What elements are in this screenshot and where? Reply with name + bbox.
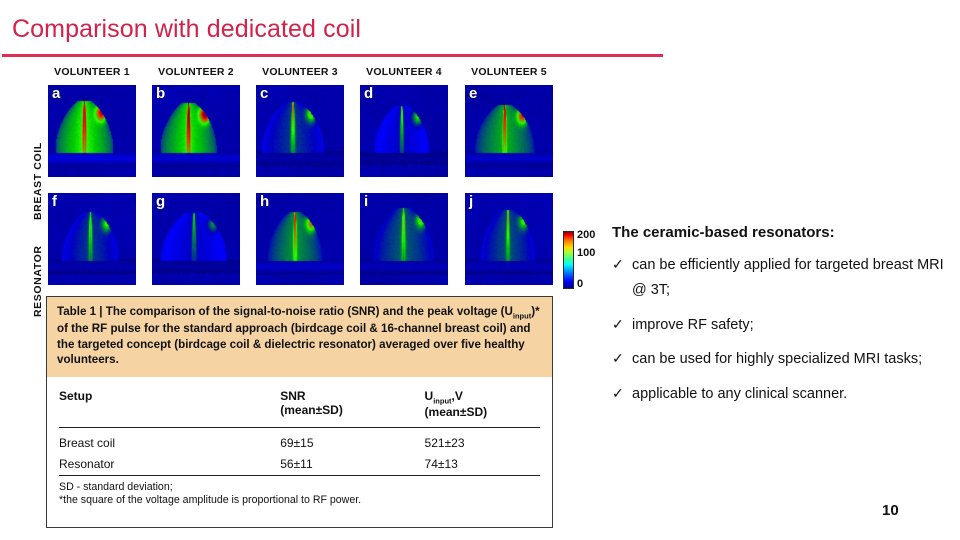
colorbar-tick-200: 200 [577,230,595,241]
column-header-setup: Setup [59,387,280,428]
table-1-card: Table 1 | The comparison of the signal-t… [46,296,553,528]
check-icon: ✓ [612,347,632,368]
mri-panel-j: j [465,193,553,285]
panel-letter-c: c [260,85,268,102]
table-body: Setup SNR (mean±SD) Uinput,V (mean±SD) B… [47,377,552,475]
conclusions-list: The ceramic-based resonators: ✓ can be e… [612,224,952,416]
conclusions-heading: The ceramic-based resonators: [612,224,952,241]
column-header-volunteer-3: VOLUNTEER 3 [256,66,344,78]
mri-panel-a: a [48,85,136,177]
panel-letter-i: i [364,193,368,210]
list-item: ✓ can be efficiently applied for targete… [612,253,952,304]
table-body-rows: Breast coil 69±15 521±23 Resonator 56±11… [59,427,540,475]
check-icon: ✓ [612,313,632,334]
list-item-label: can be used for highly specialized MRI t… [632,347,922,372]
colorbar-tick-0: 0 [577,279,583,290]
mri-panel-b: b [152,85,240,177]
column-header-snr: SNR (mean±SD) [280,387,424,428]
footnote-asterisk: *the square of the voltage amplitude is … [59,494,540,508]
panel-letter-f: f [52,193,57,210]
panel-letter-j: j [469,193,473,210]
column-header-uinput: Uinput,V (mean±SD) [425,387,540,428]
check-icon: ✓ [612,382,632,403]
mri-panel-h: h [256,193,344,285]
cell-snr: 56±11 [280,454,424,475]
panel-letter-d: d [364,85,373,102]
mri-panel-d: d [360,85,448,177]
list-item: ✓ improve RF safety; [612,313,952,338]
snr-comparison-table: Setup SNR (mean±SD) Uinput,V (mean±SD) B… [59,387,540,475]
mri-panel-i: i [360,193,448,285]
colorbar-gradient [563,231,574,289]
header-setup-label: Setup [59,389,92,403]
row-label-breast-coil: BREAST COIL [32,142,44,220]
header-uinput-line1: Uinput,V [425,389,463,403]
cell-setup: Breast coil [59,427,280,454]
panel-letter-a: a [52,85,60,102]
column-header-volunteer-2: VOLUNTEER 2 [152,66,240,78]
mri-figure: VOLUNTEER 1 VOLUNTEER 2 VOLUNTEER 3 VOLU… [0,62,600,292]
table-header-row: Setup SNR (mean±SD) Uinput,V (mean±SD) [59,387,540,428]
mri-panel-c: c [256,85,344,177]
cell-setup: Resonator [59,454,280,475]
panel-letter-e: e [469,85,477,102]
page-title: Comparison with dedicated coil [12,15,361,44]
list-item: ✓ can be used for highly specialized MRI… [612,347,952,372]
list-item-label: can be efficiently applied for targeted … [632,253,952,304]
table-row: Resonator 56±11 74±13 [59,454,540,475]
header-snr-line1: SNR [280,389,305,403]
table-footnotes: SD - standard deviation; *the square of … [59,475,540,509]
header-snr-line2: (mean±SD) [280,403,343,417]
footnote-sd: SD - standard deviation; [59,481,540,495]
column-header-volunteer-5: VOLUNTEER 5 [465,66,553,78]
mri-panel-e: e [465,85,553,177]
panel-letter-h: h [260,193,269,210]
list-item-label: improve RF safety; [632,313,754,338]
mri-panel-g: g [152,193,240,285]
panel-letter-b: b [156,85,165,102]
colorbar-tick-100: 100 [577,248,595,259]
title-divider [2,54,663,57]
check-icon: ✓ [612,253,632,274]
cell-uinput: 521±23 [425,427,540,454]
panel-letter-g: g [156,193,165,210]
header-uinput-line2: (mean±SD) [425,405,488,419]
table-caption: Table 1 | The comparison of the signal-t… [47,297,552,377]
cell-uinput: 74±13 [425,454,540,475]
cell-snr: 69±15 [280,427,424,454]
list-item-label: applicable to any clinical scanner. [632,382,847,407]
slide-page-number: 10 [882,502,899,519]
column-header-volunteer-4: VOLUNTEER 4 [360,66,448,78]
table-head: Setup SNR (mean±SD) Uinput,V (mean±SD) [59,387,540,428]
row-label-resonator: RESONATOR [32,245,44,317]
column-header-volunteer-1: VOLUNTEER 1 [48,66,136,78]
list-item: ✓ applicable to any clinical scanner. [612,382,952,407]
mri-panel-f: f [48,193,136,285]
table-row: Breast coil 69±15 521±23 [59,427,540,454]
